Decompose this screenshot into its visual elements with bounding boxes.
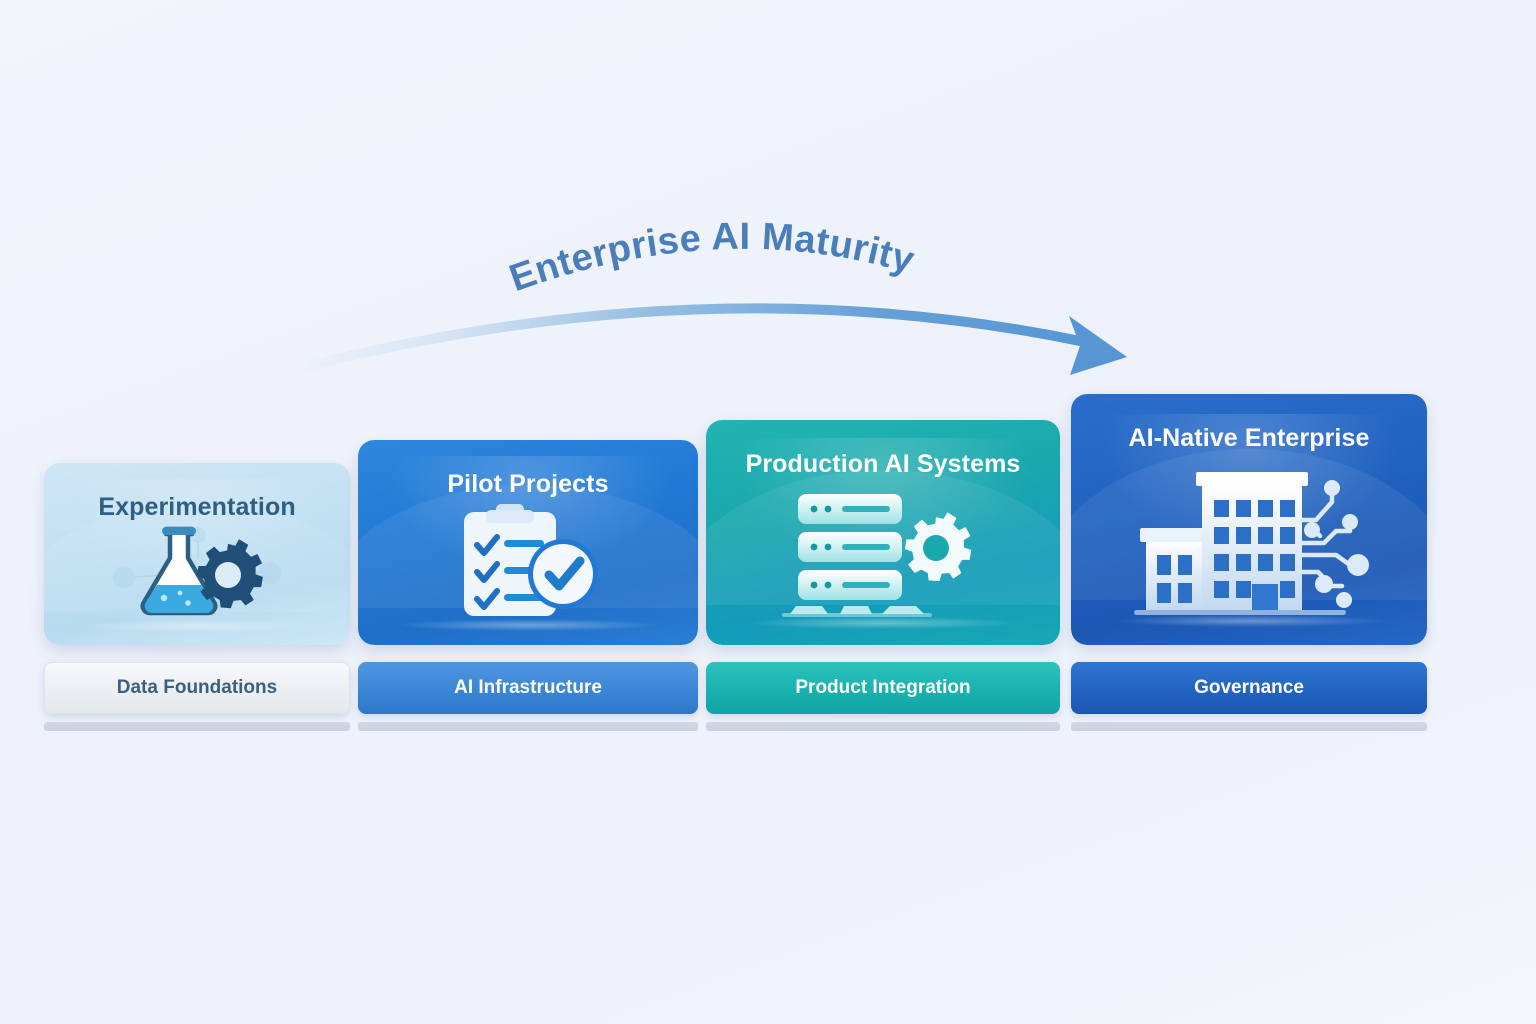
foundation-label: AI Infrastructure [454,677,602,699]
arrow-head-icon [1069,316,1127,375]
foundation-label: Governance [1194,677,1304,699]
diagram-title-text: Enterprise AI Maturity [504,216,919,300]
server-rack-gear-icon-wrap [706,482,1060,627]
foundation-label: Data Foundations [117,677,277,699]
diagram-title: Enterprise AI Maturity [504,216,919,300]
side-building [1140,528,1210,610]
rack-base [782,606,932,617]
foundation-base-strip [44,722,350,731]
clipboard-checklist-icon [436,498,621,623]
server-rack-gear-icon [776,482,991,627]
foundation-base-strip [1071,722,1427,731]
stage-card-pilot-projects[interactable]: Pilot Projects [358,440,698,645]
circuit-network [1302,480,1369,608]
stage-title-pilot-projects: Pilot Projects [358,470,698,499]
foundation-label: Product Integration [795,677,970,699]
enterprise-building-network-icon [1124,460,1374,628]
maturity-diagram: Enterprise AI Maturity Experimentation [0,0,1536,1024]
stage-title-production-ai-systems: Production AI Systems [706,450,1060,479]
foundation-base-strip [706,722,1060,731]
enterprise-building-network-icon-wrap [1071,460,1427,628]
stage-card-ai-native-enterprise[interactable]: AI-Native Enterprise [1071,394,1427,645]
stage-card-production-ai-systems[interactable]: Production AI Systems [706,420,1060,645]
foundation-ai-infrastructure[interactable]: AI Infrastructure [358,662,698,714]
foundation-base-strip [358,722,698,731]
gear-shape [904,512,970,581]
arrow-arc [285,308,1085,372]
foundation-product-integration[interactable]: Product Integration [706,662,1060,714]
stage-card-experimentation[interactable]: Experimentation [44,463,350,645]
flask-gear-icon [102,515,292,625]
stage-title-experimentation: Experimentation [44,493,350,522]
stage-title-ai-native-enterprise: AI-Native Enterprise [1071,424,1427,453]
foundation-data-foundations[interactable]: Data Foundations [44,662,350,714]
foundation-governance[interactable]: Governance [1071,662,1427,714]
main-building [1196,472,1308,610]
rack-units [798,494,902,600]
flask-gear-icon-wrap [44,515,350,625]
clipboard-checklist-icon-wrap [358,498,698,623]
gear-shape [197,539,263,608]
